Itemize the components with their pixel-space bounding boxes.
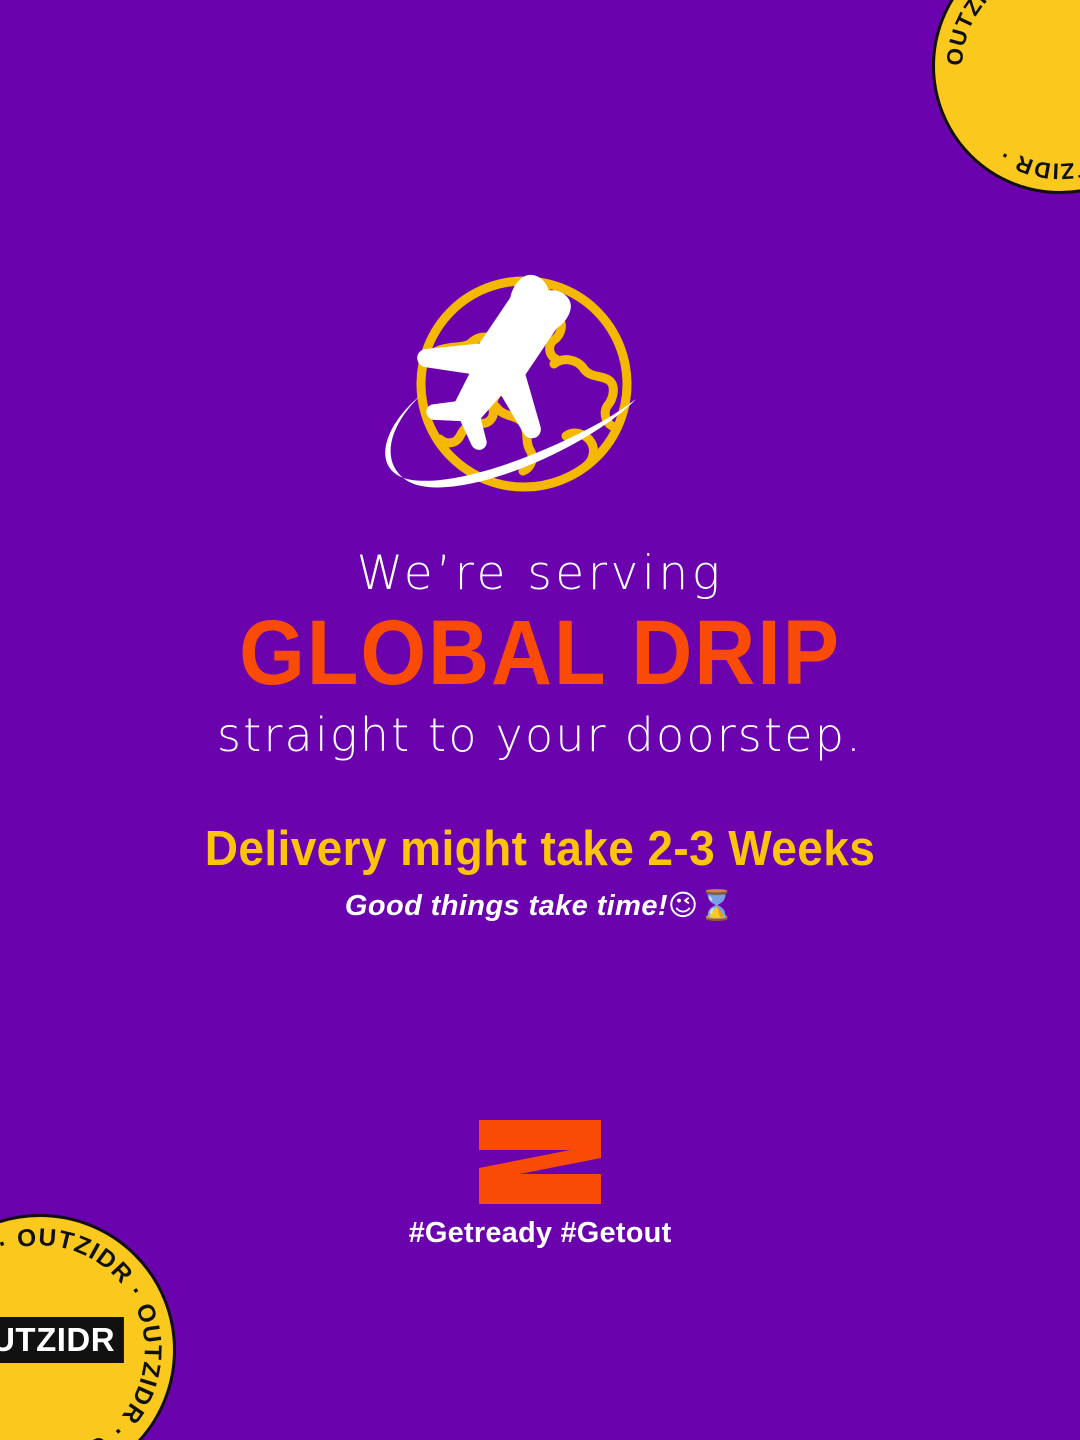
brand-badge-top-right: OUTZIDR · OUTZIDR · OUTZIDR · OUTZIDR · (932, 0, 1080, 194)
delivery-eta-text: Delivery might take 2-3 Weeks (32, 822, 1047, 877)
brand-badge-bottom-left: OUTZIDR · OUTZIDR · OUTZIDR · OUTZIDR · … (0, 1214, 176, 1440)
brand-z-logo-icon (479, 1120, 601, 1204)
subhead-text: straight to your doorstep. (0, 709, 1080, 762)
eyebrow-text: We’re serving (0, 548, 1080, 601)
delivery-notice-block: Delivery might take 2-3 Weeks Good thing… (0, 822, 1080, 924)
badge-wordmark-text: OUTZIDR (0, 1317, 124, 1363)
delivery-subnote-emoji: 😉⌛ (668, 888, 735, 922)
badge-core-bottom-left: OUTZIDR (0, 1333, 124, 1363)
delivery-subnote-text: Good things take time! (345, 890, 668, 922)
page-title: GLOBAL DRIP (43, 607, 1037, 699)
poster-canvas: OUTZIDR · OUTZIDR · OUTZIDR · OUTZIDR · (0, 0, 1080, 1440)
headline-block: We’re serving GLOBAL DRIP straight to yo… (0, 548, 1080, 762)
badge-ring-text-top-right: OUTZIDR · OUTZIDR · OUTZIDR · OUTZIDR · (942, 0, 1080, 184)
delivery-subnote: Good things take time!😉⌛ (0, 888, 1080, 924)
globe-airplane-illustration (360, 268, 720, 508)
badge-ring-top-right: OUTZIDR · OUTZIDR · OUTZIDR · OUTZIDR · (935, 0, 1080, 191)
illustration-svg (360, 268, 720, 508)
